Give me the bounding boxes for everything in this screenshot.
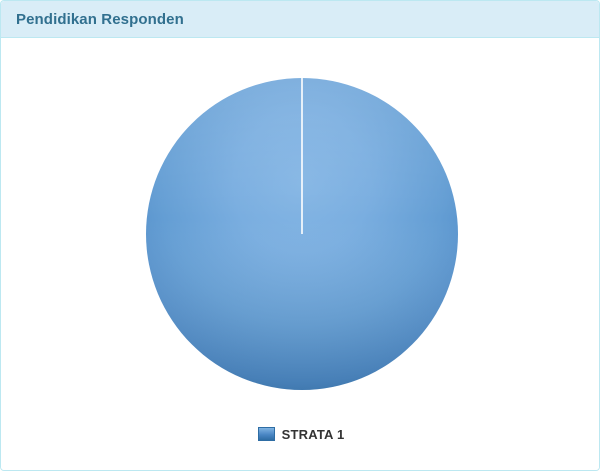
page-title: Pendidikan Responden — [16, 1, 184, 38]
legend-item-label: STRATA 1 — [282, 428, 345, 441]
legend-item[interactable]: STRATA 1 — [258, 427, 345, 441]
legend-swatch-icon — [258, 427, 275, 441]
chart-panel: Pendidikan Responden — [0, 0, 600, 471]
panel-body: STRATA 1 — [1, 39, 600, 471]
chart-legend: STRATA 1 — [1, 422, 600, 446]
pie-chart-canvas — [1, 39, 600, 471]
pie-chart: STRATA 1 — [1, 39, 600, 471]
panel-header: Pendidikan Responden — [1, 1, 599, 38]
